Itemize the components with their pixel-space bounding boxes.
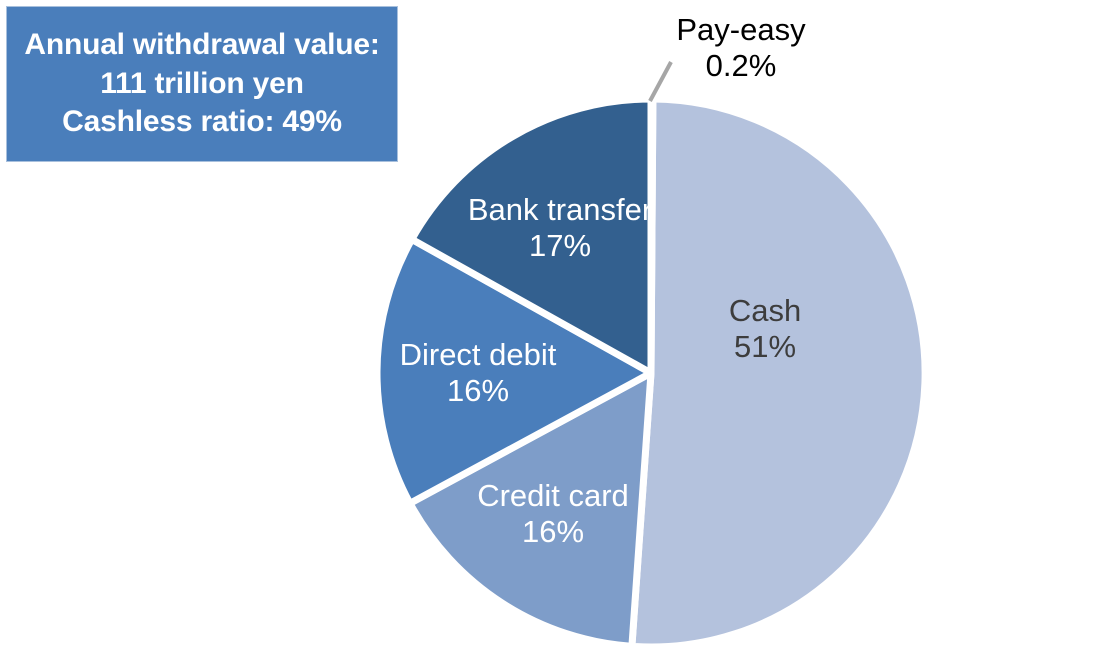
pie-slice-pay-easy [651,99,653,373]
callout-line-3: Cashless ratio: 49% [62,103,342,141]
annual-withdrawal-callout: Annual withdrawal value: 111 trillion ye… [6,6,398,162]
pay-easy-leader-line [650,62,671,101]
pie-slice-cash [632,99,925,647]
pie-slice-group [377,99,925,647]
callout-line-1: Annual withdrawal value: [24,26,379,64]
chart-canvas: Pay-easy 0.2% Cash 51% Bank transfer 17%… [0,0,1120,668]
callout-line-2: 111 trillion yen [100,65,304,103]
